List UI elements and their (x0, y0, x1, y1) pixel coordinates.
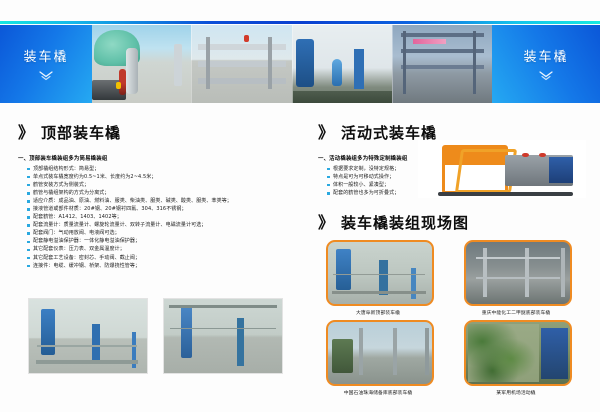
list-item: 配套鹤管：A1412、1403、1402等； (27, 213, 290, 221)
chevrons-icon: 》 (318, 215, 334, 231)
list-item: 鹤管安装方式为侧装式； (27, 181, 290, 189)
list-item: 适应介质：成品油、原油、燃料油、服类、柴油类、服类、碱类、酸类、服类、苯类等； (27, 197, 290, 205)
red-marker-shape (244, 35, 249, 42)
double-chevron-down-icon (38, 70, 54, 82)
workshop-loading-skid-photo-2 (163, 298, 283, 374)
list-item: 配套静电溢油保护器：一体化静电溢油保护器； (27, 237, 290, 245)
banner-photo-tank-truck (92, 25, 191, 103)
gallery-row-2: 中国石油珠海储备库底部装车橇 某军用机场活动橇 (326, 320, 592, 396)
gallery-item-petrochina-zhuhai[interactable]: 中国石油珠海储备库底部装车橇 (326, 320, 430, 396)
list-item: 配套流量计：质量流量计、螺旋轮流量计、双转子流量计、电磁流量计可选； (27, 221, 290, 229)
gallery-photo-petrochina-zhuhai (326, 320, 434, 386)
gallery-grid: 大唐阜新顶部装车橇 重庆中能化工二甲醚底部装车橇 中国石油珠海储备库底部装车橇 … (326, 240, 592, 400)
gallery-title: 装车橇装组现场图 (341, 212, 469, 233)
banner-photo-indoor-equipment (292, 25, 392, 103)
gallery-row-1: 大唐阜新顶部装车橇 重庆中能化工二甲醚底部装车橇 (326, 240, 592, 316)
banner-tab-left-label: 装车橇 (23, 46, 68, 65)
banner-tab-left[interactable]: 装车橇 (0, 25, 92, 103)
chevrons-icon: 》 (18, 125, 34, 141)
list-item: 顶部橇组结构形式：简易型； (27, 165, 290, 173)
gallery-heading: 》 装车橇装组现场图 (318, 212, 469, 233)
gallery-caption: 某军用机场活动橇 (464, 389, 568, 396)
top-loading-title: 顶部装车橇 (41, 122, 121, 143)
list-item: 单点式装车橇宽度约为0.5~1米、长度约为2~4.5米； (27, 173, 290, 181)
gallery-caption: 重庆中能化工二甲醚底部装车橇 (464, 309, 568, 316)
brochure-page: 装车橇 装车橇 (0, 0, 600, 412)
list-item: 其它配套工艺设备：密封芯、手动阀、截止阀； (27, 254, 290, 262)
list-item: 连接件：电缆、缓冲钢、桥架、防爆挠性管等； (27, 262, 290, 270)
hero-banner: 装车橇 装车橇 (0, 25, 600, 103)
double-chevron-down-icon (538, 70, 554, 82)
top-loading-heading: 》 顶部装车橇 (18, 122, 290, 143)
gallery-item-chongqing-zhongneng[interactable]: 重庆中能化工二甲醚底部装车橇 (464, 240, 568, 316)
chevrons-icon: 》 (318, 125, 334, 141)
top-loading-photo-row (28, 298, 283, 374)
section-top-loading: 》 顶部装车橇 一、顶部装车橇装组多为简易橇装组 顶部橇组结构形式：简易型； 单… (18, 122, 290, 270)
gallery-photo-datang-fuxin (326, 240, 434, 306)
orange-mobile-skid-photo (418, 140, 586, 198)
list-item: 接液管道或部件材质：20#钢、20#钢衬四氟、304、316不锈钢； (27, 205, 290, 213)
lamp-shape (116, 82, 121, 89)
control-cabinet-shape (549, 157, 573, 183)
list-item: 其它配套仪表：压力表、双金属温度计； (27, 245, 290, 253)
top-loading-subhead: 一、顶部装车橇装组多为简易橇装组 (18, 154, 290, 162)
gallery-photo-military-airport (464, 320, 572, 386)
top-gradient-rule (0, 21, 600, 24)
banner-tab-right[interactable]: 装车橇 (492, 25, 600, 103)
banner-tab-right-label: 装车橇 (523, 46, 568, 65)
top-loading-bullet-list: 顶部橇组结构形式：简易型； 单点式装车橇宽度约为0.5~1米、长度约为2~4.5… (18, 165, 290, 270)
gallery-caption: 大唐阜新顶部装车橇 (326, 309, 430, 316)
valve-handle-shape-2 (539, 153, 546, 158)
skid-base-shape (438, 192, 572, 196)
gallery-item-military-airport[interactable]: 某军用机场活动橇 (464, 320, 568, 396)
gallery-item-datang-fuxin[interactable]: 大唐阜新顶部装车橇 (326, 240, 430, 316)
list-item: 鹤管与橇组架构的方式为分离式； (27, 189, 290, 197)
banner-photo-outdoor-skid (191, 25, 291, 103)
list-item: 配套阀门：气动用放阀、电液阀可选； (27, 229, 290, 237)
banner-photo-workshop-structure (392, 25, 492, 103)
gallery-photo-chongqing-zhongneng (464, 240, 572, 306)
equipment-pod-shape (332, 59, 342, 86)
banner-sign-shape (413, 39, 447, 44)
workshop-loading-skid-photo-1 (28, 298, 148, 374)
gallery-caption: 中国石油珠海储备库底部装车橇 (326, 389, 430, 396)
